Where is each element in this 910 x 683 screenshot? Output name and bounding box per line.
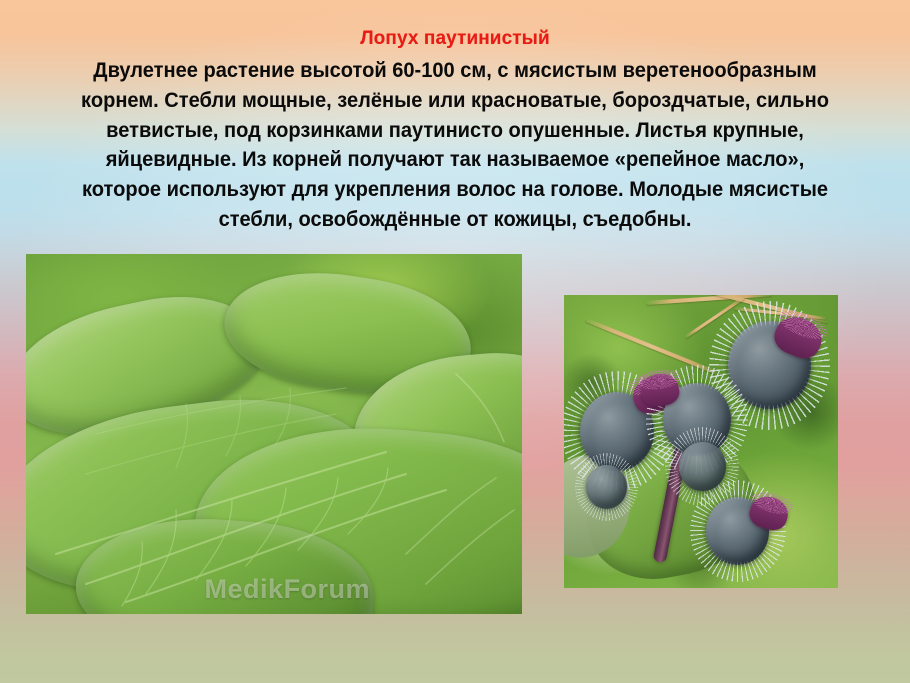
description-text: Двулетнее растение высотой 60-100 см, с … [45, 56, 864, 235]
description-line: яйцевидные. Из корней получают так назыв… [45, 145, 864, 175]
description-line: которое используют для укрепления волос … [45, 175, 864, 205]
burdock-burrs-photo [564, 295, 838, 588]
description-line: корнем. Стебли мощные, зелёные или красн… [45, 86, 864, 116]
burr-spikes [575, 453, 638, 520]
description-line: ветвистые, под корзинками паутинисто опу… [45, 116, 864, 146]
slide-content: Лопух паутинистый Двулетнее растение выс… [0, 0, 910, 683]
description-line: стебли, освобождённые от кожицы, съедобн… [45, 205, 864, 235]
burdock-leaves-photo: MedikForum [26, 254, 522, 614]
description-line: Двулетнее растение высотой 60-100 см, с … [45, 56, 864, 86]
burr-spikes [665, 427, 739, 506]
leaf-veins [26, 254, 522, 614]
slide: Лопух паутинистый Двулетнее растение выс… [0, 0, 910, 683]
page-title: Лопух паутинистый [0, 28, 910, 50]
